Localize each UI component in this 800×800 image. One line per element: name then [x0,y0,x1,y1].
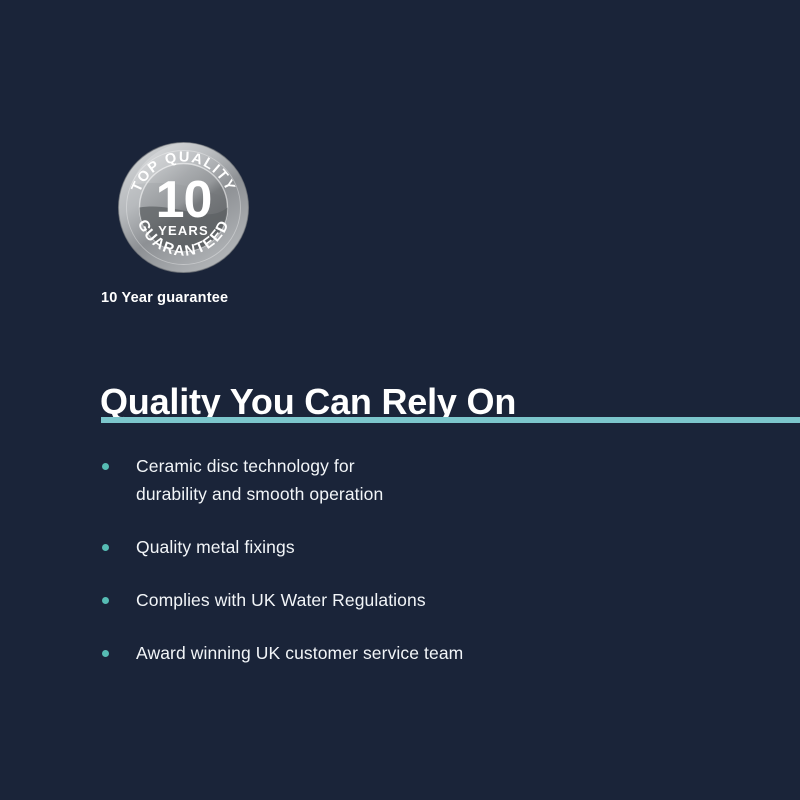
list-item: Complies with UK Water Regulations [100,586,740,614]
quality-feature-panel: TOP QUALITY GUARANTEED 10 YEARS 10 Year … [0,0,800,800]
bullet-dot-icon [102,544,109,551]
list-item: Award winning UK customer service team [100,639,740,667]
accent-divider [101,417,800,423]
bullet-dot-icon [102,463,109,470]
guarantee-badge: TOP QUALITY GUARANTEED 10 YEARS [117,141,250,274]
list-item-label: Quality metal fixings [136,533,740,561]
feature-list: Ceramic disc technology for durability a… [100,452,740,667]
bullet-dot-icon [102,650,109,657]
top-quality-seal-icon: TOP QUALITY GUARANTEED 10 YEARS [117,141,250,274]
list-item-label: Complies with UK Water Regulations [136,586,740,614]
guarantee-caption: 10 Year guarantee [101,290,228,306]
list-item: Quality metal fixings [100,533,740,561]
page-title: Quality You Can Rely On [100,382,516,422]
bullet-dot-icon [102,597,109,604]
list-item-label: Award winning UK customer service team [136,639,740,667]
list-item: Ceramic disc technology for durability a… [100,452,740,508]
list-item-label: Ceramic disc technology for durability a… [136,452,740,508]
svg-text:YEARS: YEARS [158,223,209,238]
svg-text:10: 10 [156,171,212,229]
